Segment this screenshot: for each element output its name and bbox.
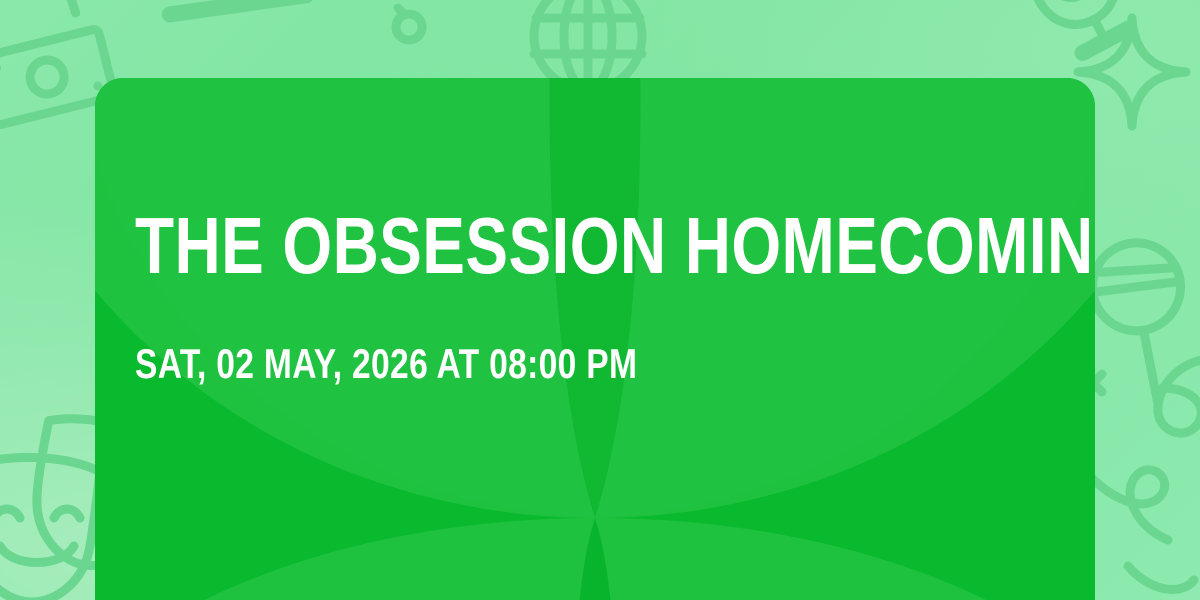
event-title: The Obsession Homecoming [135,206,1095,286]
event-banner: The Obsession Homecoming Sat, 02 May, 20… [0,0,1200,600]
ring-icon [396,8,422,40]
event-card[interactable]: The Obsession Homecoming Sat, 02 May, 20… [95,78,1095,600]
card-text-block: The Obsession Homecoming Sat, 02 May, 20… [135,78,1055,600]
party-popper-icon [54,0,106,15]
globe-icon [534,0,642,90]
event-datetime: Sat, 02 May, 2026 at 08:00 PM [135,343,637,385]
ticket-icon [161,0,307,14]
